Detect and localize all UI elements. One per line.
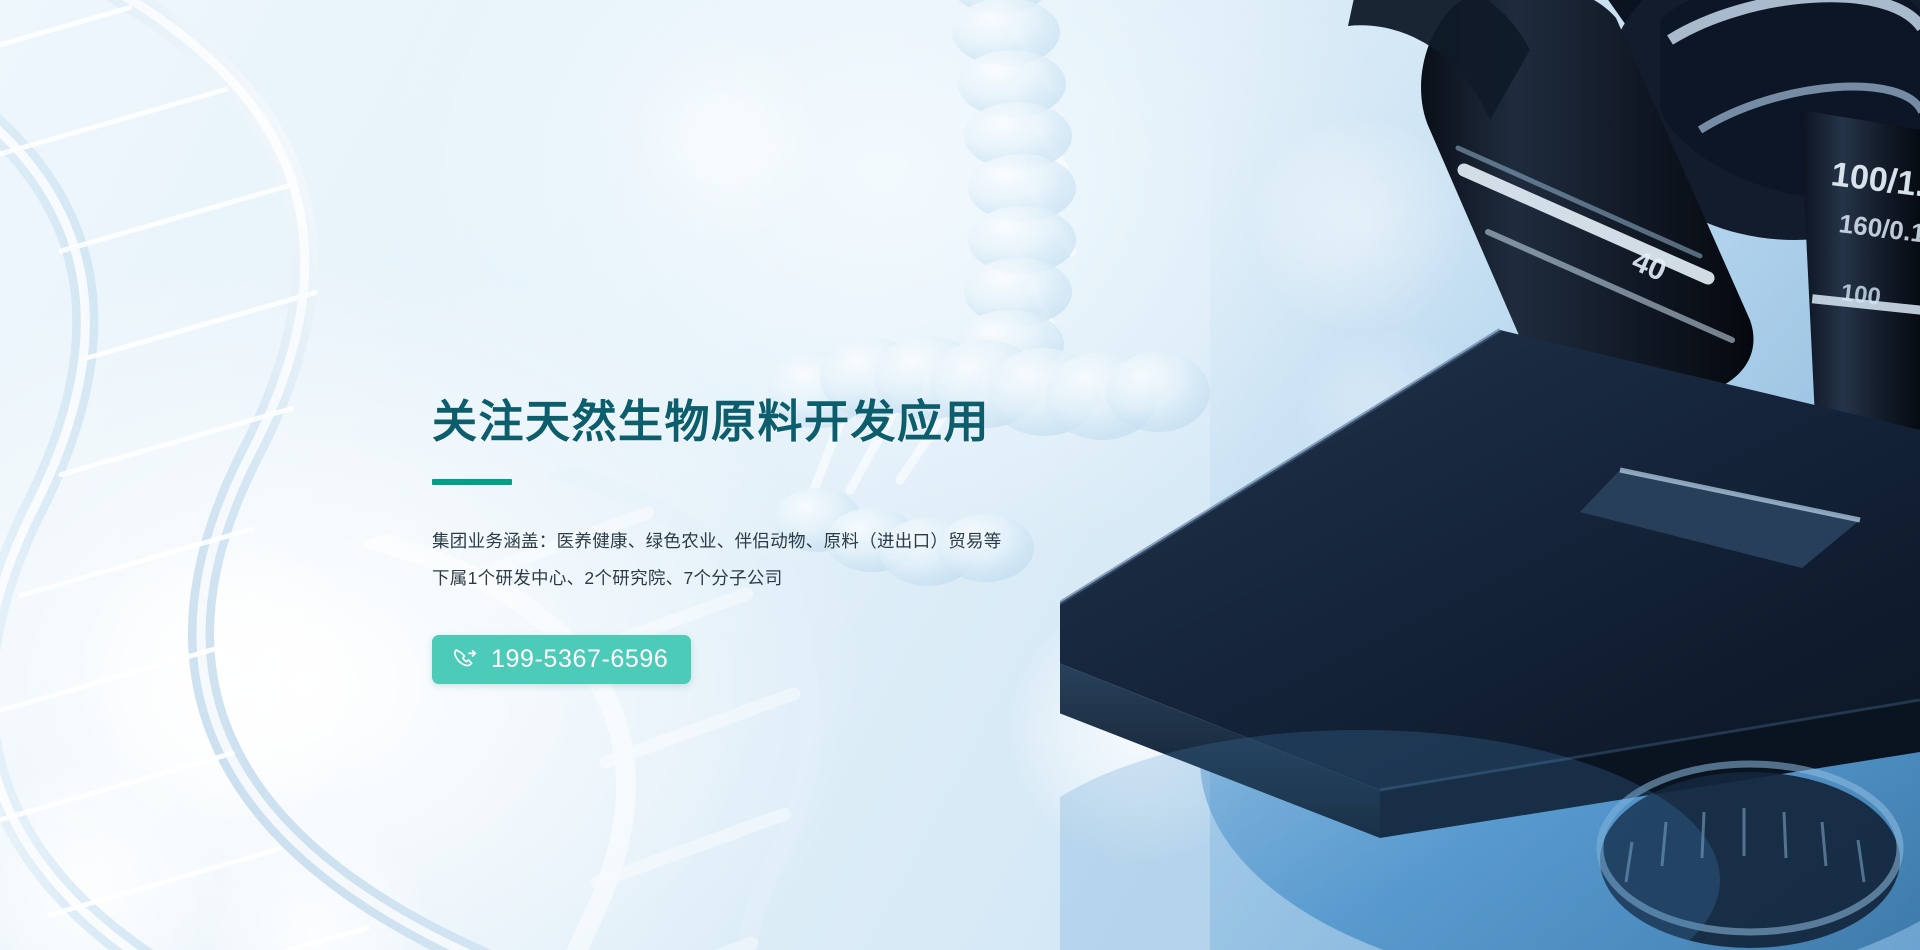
svg-text:40: 40 (1627, 244, 1671, 288)
description-line-1: 集团业务涵盖：医养健康、绿色农业、伴侣动物、原料（进出口）贸易等 (432, 523, 1292, 560)
bokeh-light-3 (200, 820, 430, 950)
svg-text:160/0.17: 160/0.17 (1837, 208, 1920, 250)
page-title: 关注天然生物原料开发应用 (432, 396, 1292, 448)
description-line-2: 下属1个研发中心、2个研究院、7个分子公司 (432, 560, 1292, 597)
bokeh-light-2 (0, 760, 220, 950)
hero-description: 集团业务涵盖：医养健康、绿色农业、伴侣动物、原料（进出口）贸易等 下属1个研发中… (432, 523, 1292, 597)
phone-call-button[interactable]: 199-5367-6596 (432, 635, 691, 684)
bokeh-light-6 (1300, 330, 1470, 500)
phone-number-label: 199-5367-6596 (491, 647, 668, 672)
svg-text:100: 100 (1839, 279, 1882, 311)
title-divider (432, 479, 512, 485)
svg-text:100/1.25: 100/1.25 (1829, 155, 1920, 209)
bokeh-light-7 (620, 40, 820, 240)
bokeh-light-5 (1255, 120, 1465, 330)
bokeh-light-1 (70, 530, 370, 830)
hero-banner: 100/1.25 160/0.17 100 40 (0, 0, 1920, 950)
hero-content: 关注天然生物原料开发应用 集团业务涵盖：医养健康、绿色农业、伴侣动物、原料（进出… (432, 396, 1292, 684)
phone-outgoing-icon (452, 646, 478, 672)
